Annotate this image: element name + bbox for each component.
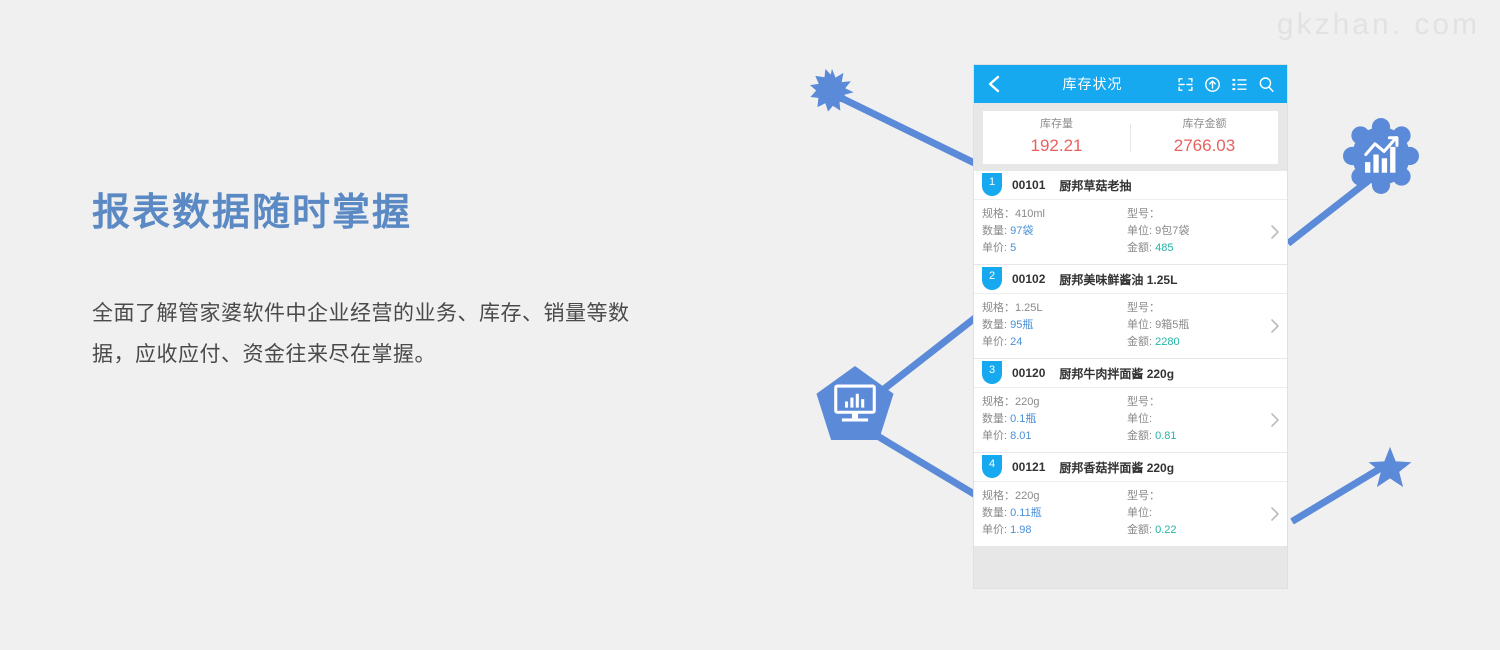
label-amount: 金额: bbox=[1127, 430, 1152, 442]
item-name: 厨邦香菇拌面酱 220g bbox=[1059, 459, 1174, 476]
search-icon[interactable] bbox=[1258, 76, 1275, 93]
header-actions bbox=[1177, 76, 1277, 93]
watermark-text: gkzhan. com bbox=[1277, 8, 1480, 42]
detail-price: 单价: 5 bbox=[982, 240, 1127, 257]
label-spec: 规格： bbox=[982, 396, 1015, 408]
detail-model: 型号： bbox=[1127, 206, 1257, 223]
detail-row: 单价: 1.98 金额: 0.22 bbox=[982, 522, 1279, 539]
label-amount: 金额: bbox=[1127, 524, 1152, 536]
app-title: 库存状况 bbox=[1004, 74, 1177, 94]
stat-label: 库存金额 bbox=[1131, 117, 1278, 132]
chevron-left-icon bbox=[988, 75, 1000, 93]
phone-footer-area bbox=[974, 547, 1287, 585]
bar-trend-chart-icon bbox=[1341, 118, 1421, 194]
detail-unit: 单位: bbox=[1127, 411, 1257, 428]
label-qty: 数量: bbox=[982, 507, 1007, 519]
value-qty: 0.1瓶 bbox=[1010, 413, 1036, 425]
detail-row: 规格：220g 型号： bbox=[982, 394, 1279, 411]
detail-amount: 金额: 485 bbox=[1127, 240, 1257, 257]
item-number-badge: 1 bbox=[982, 173, 1002, 196]
detail-spec: 规格：220g bbox=[982, 488, 1127, 505]
label-price: 单价: bbox=[982, 242, 1007, 254]
item-code: 00120 bbox=[1012, 366, 1045, 380]
detail-row: 规格：220g 型号： bbox=[982, 488, 1279, 505]
list-icon[interactable] bbox=[1231, 76, 1248, 93]
starburst-badge bbox=[810, 68, 854, 112]
page-title: 报表数据随时掌握 bbox=[92, 192, 632, 236]
star-badge bbox=[1368, 446, 1412, 488]
detail-price: 单价: 1.98 bbox=[982, 522, 1127, 539]
detail-amount: 金额: 0.22 bbox=[1127, 522, 1257, 539]
stat-stock-amount: 库存金额 2766.03 bbox=[1131, 117, 1278, 157]
detail-model: 型号： bbox=[1127, 488, 1257, 505]
detail-amount: 金额: 2280 bbox=[1127, 334, 1257, 351]
detail-price: 单价: 8.01 bbox=[982, 428, 1127, 445]
detail-qty: 数量: 0.11瓶 bbox=[982, 505, 1127, 522]
detail-spec: 规格：410ml bbox=[982, 206, 1127, 223]
value-amount: 0.81 bbox=[1155, 430, 1176, 442]
value-price: 24 bbox=[1010, 336, 1022, 348]
item-code: 00121 bbox=[1012, 460, 1045, 474]
value-amount: 2280 bbox=[1155, 336, 1179, 348]
detail-spec: 规格：220g bbox=[982, 394, 1127, 411]
label-spec: 规格： bbox=[982, 302, 1015, 314]
inventory-list: 1 00101 厨邦草菇老抽 规格：410ml 型号： 数量: 97袋 单位: … bbox=[974, 171, 1287, 547]
label-model: 型号： bbox=[1127, 490, 1160, 502]
detail-amount: 金额: 0.81 bbox=[1127, 428, 1257, 445]
chevron-right-icon[interactable] bbox=[1270, 224, 1280, 240]
stats-card: 库存量 192.21 库存金额 2766.03 bbox=[983, 111, 1278, 164]
pentagon-badge bbox=[816, 366, 894, 440]
label-spec: 规格： bbox=[982, 490, 1015, 502]
item-number-badge: 2 bbox=[982, 267, 1002, 290]
item-header: 1 00101 厨邦草菇老抽 bbox=[974, 171, 1287, 200]
detail-model: 型号： bbox=[1127, 300, 1257, 317]
value-price: 1.98 bbox=[1010, 524, 1031, 536]
item-details: 规格：220g 型号： 数量: 0.1瓶 单位: 单价: 8.01 金额: 0.… bbox=[974, 388, 1287, 452]
label-amount: 金额: bbox=[1127, 242, 1152, 254]
chevron-right-icon[interactable] bbox=[1270, 318, 1280, 334]
chevron-right-icon[interactable] bbox=[1270, 506, 1280, 522]
label-amount: 金额: bbox=[1127, 336, 1152, 348]
value-spec: 410ml bbox=[1015, 208, 1045, 220]
detail-row: 数量: 0.11瓶 单位: bbox=[982, 505, 1279, 522]
stat-value: 2766.03 bbox=[1131, 134, 1278, 158]
stats-section: 库存量 192.21 库存金额 2766.03 bbox=[974, 103, 1287, 171]
item-number-badge: 3 bbox=[982, 361, 1002, 384]
value-qty: 95瓶 bbox=[1010, 319, 1033, 331]
detail-row: 数量: 0.1瓶 单位: bbox=[982, 411, 1279, 428]
value-amount: 485 bbox=[1155, 242, 1173, 254]
item-name: 厨邦草菇老抽 bbox=[1059, 177, 1131, 194]
item-name: 厨邦美味鲜酱油 1.25L bbox=[1059, 271, 1177, 288]
item-header: 4 00121 厨邦香菇拌面酱 220g bbox=[974, 453, 1287, 482]
marketing-copy: 报表数据随时掌握 全面了解管家婆软件中企业经营的业务、库存、销量等数据，应收应付… bbox=[92, 192, 632, 376]
detail-row: 单价: 5 金额: 485 bbox=[982, 240, 1279, 257]
item-details: 规格：220g 型号： 数量: 0.11瓶 单位: 单价: 1.98 金额: 0… bbox=[974, 482, 1287, 546]
item-header: 3 00120 厨邦牛肉拌面酱 220g bbox=[974, 359, 1287, 388]
list-item[interactable]: 4 00121 厨邦香菇拌面酱 220g 规格：220g 型号： 数量: 0.1… bbox=[974, 453, 1287, 547]
flower-badge bbox=[1341, 118, 1421, 194]
detail-unit: 单位: 9箱5瓶 bbox=[1127, 317, 1257, 334]
value-unit: 9箱5瓶 bbox=[1155, 319, 1189, 331]
detail-row: 数量: 95瓶 单位: 9箱5瓶 bbox=[982, 317, 1279, 334]
page-description: 全面了解管家婆软件中企业经营的业务、库存、销量等数据，应收应付、资金往来尽在掌握… bbox=[92, 294, 632, 376]
chevron-right-icon[interactable] bbox=[1270, 412, 1280, 428]
item-header: 2 00102 厨邦美味鲜酱油 1.25L bbox=[974, 265, 1287, 294]
item-name: 厨邦牛肉拌面酱 220g bbox=[1059, 365, 1174, 382]
label-price: 单价: bbox=[982, 336, 1007, 348]
monitor-chart-icon bbox=[816, 366, 894, 440]
detail-qty: 数量: 0.1瓶 bbox=[982, 411, 1127, 428]
value-qty: 97袋 bbox=[1010, 225, 1033, 237]
star-icon bbox=[1368, 446, 1412, 488]
detail-model: 型号： bbox=[1127, 394, 1257, 411]
value-spec: 1.25L bbox=[1015, 302, 1043, 314]
detail-row: 数量: 97袋 单位: 9包7袋 bbox=[982, 223, 1279, 240]
detail-row: 单价: 8.01 金额: 0.81 bbox=[982, 428, 1279, 445]
detail-row: 单价: 24 金额: 2280 bbox=[982, 334, 1279, 351]
value-unit: 9包7袋 bbox=[1155, 225, 1189, 237]
app-header: 库存状况 bbox=[974, 65, 1287, 103]
value-price: 5 bbox=[1010, 242, 1016, 254]
label-price: 单价: bbox=[982, 524, 1007, 536]
back-button[interactable] bbox=[984, 74, 1004, 94]
page-root: gkzhan. com 报表数据随时掌握 全面了解管家婆软件中企业经营的业务、库… bbox=[0, 0, 1500, 650]
stat-value: 192.21 bbox=[983, 134, 1130, 158]
list-item[interactable]: 2 00102 厨邦美味鲜酱油 1.25L 规格：1.25L 型号： 数量: 9… bbox=[974, 265, 1287, 359]
detail-row: 规格：410ml 型号： bbox=[982, 206, 1279, 223]
label-model: 型号： bbox=[1127, 208, 1160, 220]
upload-circle-icon[interactable] bbox=[1204, 76, 1221, 93]
item-details: 规格：1.25L 型号： 数量: 95瓶 单位: 9箱5瓶 单价: 24 金额:… bbox=[974, 294, 1287, 358]
detail-row: 规格：1.25L 型号： bbox=[982, 300, 1279, 317]
label-spec: 规格： bbox=[982, 208, 1015, 220]
value-spec: 220g bbox=[1015, 396, 1039, 408]
label-unit: 单位: bbox=[1127, 413, 1152, 425]
label-price: 单价: bbox=[982, 430, 1007, 442]
value-spec: 220g bbox=[1015, 490, 1039, 502]
label-unit: 单位: bbox=[1127, 507, 1152, 519]
stat-label: 库存量 bbox=[983, 117, 1130, 132]
stat-stock-qty: 库存量 192.21 bbox=[983, 117, 1130, 157]
phone-mockup: 库存状况 bbox=[974, 65, 1287, 588]
detail-qty: 数量: 95瓶 bbox=[982, 317, 1127, 334]
scan-icon[interactable] bbox=[1177, 76, 1194, 93]
label-unit: 单位: bbox=[1127, 319, 1152, 331]
item-code: 00101 bbox=[1012, 178, 1045, 192]
value-price: 8.01 bbox=[1010, 430, 1031, 442]
list-item[interactable]: 3 00120 厨邦牛肉拌面酱 220g 规格：220g 型号： 数量: 0.1… bbox=[974, 359, 1287, 453]
detail-price: 单价: 24 bbox=[982, 334, 1127, 351]
label-qty: 数量: bbox=[982, 225, 1007, 237]
detail-qty: 数量: 97袋 bbox=[982, 223, 1127, 240]
value-qty: 0.11瓶 bbox=[1010, 507, 1042, 519]
starburst-icon bbox=[810, 68, 854, 112]
value-amount: 0.22 bbox=[1155, 524, 1176, 536]
label-unit: 单位: bbox=[1127, 225, 1152, 237]
detail-spec: 规格：1.25L bbox=[982, 300, 1127, 317]
label-qty: 数量: bbox=[982, 413, 1007, 425]
item-number-badge: 4 bbox=[982, 455, 1002, 478]
item-details: 规格：410ml 型号： 数量: 97袋 单位: 9包7袋 单价: 5 金额: … bbox=[974, 200, 1287, 264]
detail-unit: 单位: bbox=[1127, 505, 1257, 522]
label-qty: 数量: bbox=[982, 319, 1007, 331]
label-model: 型号： bbox=[1127, 396, 1160, 408]
item-code: 00102 bbox=[1012, 272, 1045, 286]
list-item[interactable]: 1 00101 厨邦草菇老抽 规格：410ml 型号： 数量: 97袋 单位: … bbox=[974, 171, 1287, 265]
detail-unit: 单位: 9包7袋 bbox=[1127, 223, 1257, 240]
label-model: 型号： bbox=[1127, 302, 1160, 314]
